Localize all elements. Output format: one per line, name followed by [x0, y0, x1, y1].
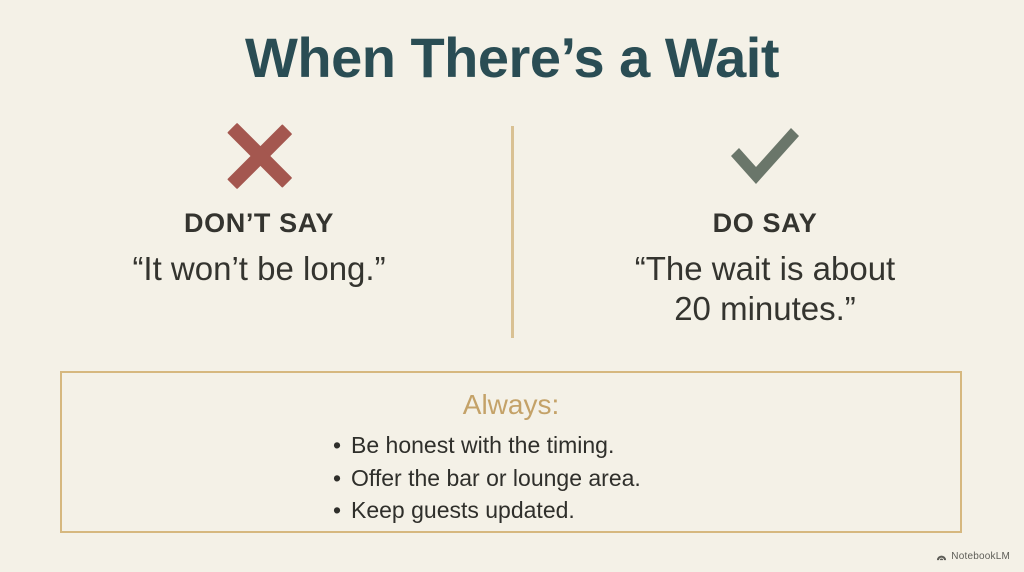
dont-say-quote-line-1: “It won’t be long.” — [132, 250, 385, 287]
list-item-text: Offer the bar or lounge area. — [351, 465, 641, 491]
list-item: •Keep guests updated. — [329, 494, 693, 527]
dont-say-label: DON’T SAY — [24, 208, 494, 239]
notebooklm-watermark: NotebookLM — [936, 551, 1010, 562]
bullet-glyph: • — [333, 494, 351, 527]
notebooklm-spiral-icon — [936, 551, 947, 562]
do-say-quote-line-1: “The wait is about — [635, 250, 895, 287]
bullet-glyph: • — [333, 429, 351, 462]
bullet-glyph: • — [333, 462, 351, 495]
notebooklm-label: NotebookLM — [951, 551, 1010, 562]
list-item: •Be honest with the timing. — [329, 429, 693, 462]
cross-x-icon — [24, 118, 494, 194]
always-bullet-list: •Be honest with the timing. •Offer the b… — [62, 429, 960, 527]
list-item-text: Be honest with the timing. — [351, 432, 614, 458]
do-say-label: DO SAY — [530, 208, 1000, 239]
dont-say-quote: “It won’t be long.” — [24, 249, 494, 289]
dont-say-column: DON’T SAY “It won’t be long.” — [24, 118, 494, 289]
compare-section: DON’T SAY “It won’t be long.” DO SAY “Th… — [0, 118, 1024, 348]
list-item-text: Keep guests updated. — [351, 497, 575, 523]
do-say-quote-line-2: 20 minutes.” — [530, 289, 1000, 329]
always-callout-box: Always: •Be honest with the timing. •Off… — [60, 371, 962, 533]
column-divider — [511, 126, 514, 338]
always-heading: Always: — [62, 389, 960, 421]
slide-canvas: When There’s a Wait DON’T SAY “It won’t … — [0, 0, 1024, 572]
page-title: When There’s a Wait — [0, 26, 1024, 90]
do-say-quote: “The wait is about 20 minutes.” — [530, 249, 1000, 330]
list-item: •Offer the bar or lounge area. — [329, 462, 693, 495]
do-say-column: DO SAY “The wait is about 20 minutes.” — [530, 118, 1000, 330]
checkmark-icon — [530, 118, 1000, 194]
